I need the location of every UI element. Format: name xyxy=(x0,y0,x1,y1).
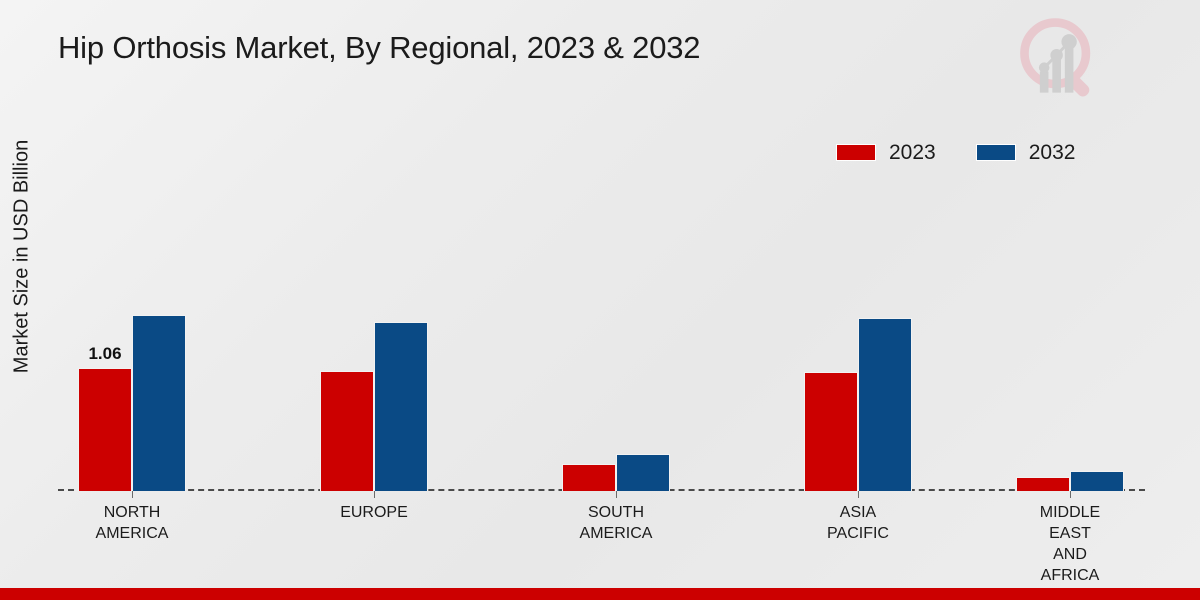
x-label-south-america: SOUTH AMERICA xyxy=(536,502,696,544)
x-label-line: EUROPE xyxy=(294,502,454,523)
bar-asia-pacific-2032[interactable] xyxy=(858,318,912,491)
x-label-line: MIDDLE xyxy=(990,502,1150,523)
bar-middle-east-and-africa-2023[interactable] xyxy=(1016,477,1070,491)
x-tick-north-america xyxy=(132,491,133,498)
bars-south-america xyxy=(562,170,670,491)
bar-middle-east-and-africa-2032[interactable] xyxy=(1070,471,1124,491)
bottom-accent-band xyxy=(0,588,1200,600)
x-label-line: AMERICA xyxy=(536,523,696,544)
chart-title: Hip Orthosis Market, By Regional, 2023 &… xyxy=(58,30,700,66)
legend-swatch-2023 xyxy=(836,144,876,161)
x-label-north-america: NORTH AMERICA xyxy=(52,502,212,544)
bar-value-north-america-2023: 1.06 xyxy=(88,344,121,364)
x-label-line: PACIFIC xyxy=(778,523,938,544)
x-label-line: EAST xyxy=(990,523,1150,544)
y-axis-title: Market Size in USD Billion xyxy=(11,87,34,427)
bar-north-america-2023[interactable] xyxy=(78,368,132,491)
x-label-line: AMERICA xyxy=(52,523,212,544)
bars-middle-east-and-africa xyxy=(1016,170,1124,491)
x-tick-middle-east-and-africa xyxy=(1070,491,1071,498)
bar-group-asia-pacific: ASIA PACIFIC xyxy=(798,170,918,491)
x-label-asia-pacific: ASIA PACIFIC xyxy=(778,502,938,544)
legend-item-2032[interactable]: 2032 xyxy=(976,142,1076,163)
chart-container: Hip Orthosis Market, By Regional, 2023 &… xyxy=(0,0,1200,600)
legend-swatch-2032 xyxy=(976,144,1016,161)
bar-group-europe: EUROPE xyxy=(314,170,434,491)
x-label-middle-east-and-africa: MIDDLE EAST AND AFRICA xyxy=(990,502,1150,586)
chart-legend: 2023 2032 xyxy=(836,142,1075,163)
x-tick-south-america xyxy=(616,491,617,498)
x-label-line: SOUTH xyxy=(536,502,696,523)
bars-europe xyxy=(320,170,428,491)
bars-north-america xyxy=(78,170,186,491)
bar-group-south-america: SOUTH AMERICA xyxy=(556,170,676,491)
bar-north-america-2032[interactable] xyxy=(132,315,186,491)
x-tick-asia-pacific xyxy=(858,491,859,498)
bar-asia-pacific-2023[interactable] xyxy=(804,372,858,491)
bar-south-america-2032[interactable] xyxy=(616,454,670,491)
bar-europe-2032[interactable] xyxy=(374,322,428,491)
bar-south-america-2023[interactable] xyxy=(562,464,616,491)
legend-label-2032: 2032 xyxy=(1029,142,1076,163)
x-label-line: ASIA xyxy=(778,502,938,523)
plot-area: 1.06 NORTH AMERICA EUROPE xyxy=(58,170,1145,491)
legend-label-2023: 2023 xyxy=(889,142,936,163)
x-label-line: AFRICA xyxy=(990,565,1150,586)
x-label-line: AND xyxy=(990,544,1150,565)
watermark-logo-icon xyxy=(1012,12,1108,108)
bar-group-north-america: 1.06 NORTH AMERICA xyxy=(72,170,192,491)
bar-europe-2023[interactable] xyxy=(320,371,374,491)
x-label-line: NORTH xyxy=(52,502,212,523)
legend-item-2023[interactable]: 2023 xyxy=(836,142,936,163)
x-label-europe: EUROPE xyxy=(294,502,454,523)
bars-asia-pacific xyxy=(804,170,912,491)
x-tick-europe xyxy=(374,491,375,498)
bar-group-middle-east-and-africa: MIDDLE EAST AND AFRICA xyxy=(1010,170,1130,491)
